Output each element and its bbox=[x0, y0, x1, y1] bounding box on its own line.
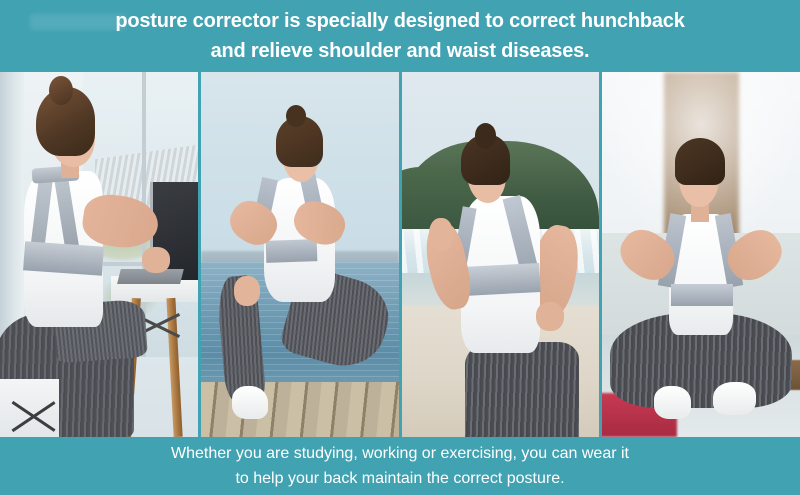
posture-corrector-waist-band bbox=[266, 239, 318, 263]
headline-band: posture corrector is specially designed … bbox=[0, 0, 800, 72]
photo-panel-beach[interactable] bbox=[402, 72, 600, 437]
caption-band: Whether you are studying, working or exe… bbox=[0, 437, 800, 495]
photo-panel-desk[interactable] bbox=[0, 72, 198, 437]
model-hand bbox=[142, 247, 170, 273]
model-hand-left bbox=[429, 218, 453, 251]
watermark-ghost bbox=[30, 14, 126, 30]
product-feature-banner: posture corrector is specially designed … bbox=[0, 0, 800, 495]
model-hand bbox=[234, 276, 260, 305]
posture-corrector-waist-band bbox=[671, 284, 732, 306]
model-hair-bun bbox=[286, 105, 306, 127]
caption-line-2: to help your back maintain the correct p… bbox=[235, 466, 564, 491]
desk-stool-brace bbox=[8, 393, 59, 437]
headline-line-1: posture corrector is specially designed … bbox=[115, 6, 684, 36]
model-sneaker-left bbox=[654, 386, 692, 419]
model-legs bbox=[465, 342, 580, 437]
model-sneaker bbox=[232, 386, 268, 419]
headline-line-2: and relieve shoulder and waist diseases. bbox=[211, 36, 590, 66]
photo-strip bbox=[0, 72, 800, 437]
model-sneaker-right bbox=[713, 382, 757, 415]
model-hair-bun bbox=[49, 76, 73, 105]
photo-panel-yoga[interactable] bbox=[602, 72, 800, 437]
posture-corrector-waist-band bbox=[462, 263, 541, 296]
model-hair bbox=[675, 138, 724, 185]
caption-line-1: Whether you are studying, working or exe… bbox=[171, 441, 629, 466]
photo-panel-dock[interactable] bbox=[201, 72, 399, 437]
model-hair-bun bbox=[475, 123, 497, 149]
model-hand-right bbox=[536, 302, 564, 331]
posture-corrector-waist-band bbox=[23, 241, 104, 276]
